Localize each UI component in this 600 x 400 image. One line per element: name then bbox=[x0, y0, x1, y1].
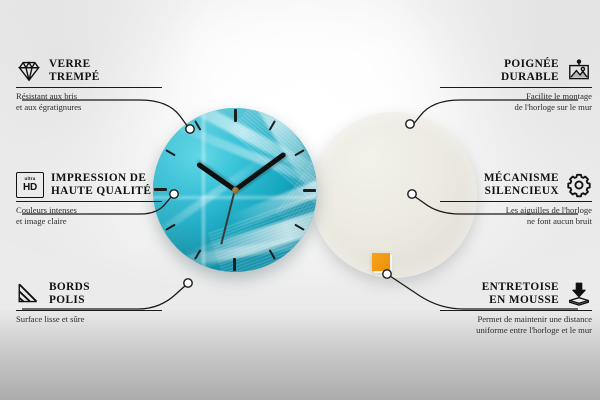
feature-divider bbox=[16, 201, 162, 202]
callout-dot-print-quality bbox=[170, 190, 178, 198]
feature-description: Couleurs intenses et image claire bbox=[16, 205, 162, 226]
feature-header: ENTRETOISE EN MOUSSE bbox=[440, 281, 592, 307]
arrow-press-pad-icon bbox=[566, 281, 592, 307]
feature-divider bbox=[440, 87, 592, 88]
feature-title: ENTRETOISE EN MOUSSE bbox=[482, 281, 559, 306]
feature-print-quality: ultra HD IMPRESSION DE HAUTE QUALITÉ Cou… bbox=[16, 172, 162, 226]
feature-description: Permet de maintenir une distance uniform… bbox=[440, 314, 592, 335]
feature-divider bbox=[16, 87, 162, 88]
feature-description: Résistant aux bris et aux égratignures bbox=[16, 91, 162, 112]
feature-title: MÉCANISME SILENCIEUX bbox=[484, 172, 559, 197]
feature-divider bbox=[16, 310, 162, 311]
feature-title: BORDS POLIS bbox=[49, 281, 90, 306]
hanging-picture-frame-icon bbox=[566, 58, 592, 84]
infographic-canvas: VERRE TREMPÉ Résistant aux bris et aux é… bbox=[0, 0, 600, 400]
gear-icon bbox=[566, 172, 592, 198]
feature-header: VERRE TREMPÉ bbox=[16, 58, 162, 84]
feature-description: Surface lisse et sûre bbox=[16, 314, 162, 324]
feature-silent-mechanism: MÉCANISME SILENCIEUX Les aiguilles de l'… bbox=[440, 172, 592, 226]
diamond-icon bbox=[16, 58, 42, 84]
feature-durable-hanger: POIGNÉE DURABLE Facilite le montage de l… bbox=[440, 58, 592, 112]
callout-dot-tempered-glass bbox=[186, 125, 194, 133]
feature-divider bbox=[440, 201, 592, 202]
callout-dot-durable-hanger bbox=[406, 120, 414, 128]
feature-polished-edges: BORDS POLIS Surface lisse et sûre bbox=[16, 281, 162, 325]
feature-title: IMPRESSION DE HAUTE QUALITÉ bbox=[51, 172, 151, 197]
diagonal-lines-icon bbox=[16, 281, 42, 307]
feature-title: POIGNÉE DURABLE bbox=[501, 58, 559, 83]
feature-header: BORDS POLIS bbox=[16, 281, 162, 307]
feature-header: POIGNÉE DURABLE bbox=[440, 58, 592, 84]
feature-description: Facilite le montage de l'horloge sur le … bbox=[440, 91, 592, 112]
callout-dot-polished-edges bbox=[184, 279, 192, 287]
feature-tempered-glass: VERRE TREMPÉ Résistant aux bris et aux é… bbox=[16, 58, 162, 112]
feature-title: VERRE TREMPÉ bbox=[49, 58, 100, 83]
feature-header: MÉCANISME SILENCIEUX bbox=[440, 172, 592, 198]
callout-dot-foam-spacer bbox=[383, 270, 391, 278]
ultra-hd-badge-icon: ultra HD bbox=[16, 172, 44, 198]
feature-header: ultra HD IMPRESSION DE HAUTE QUALITÉ bbox=[16, 172, 162, 198]
feature-divider bbox=[440, 310, 592, 311]
callout-dot-silent-mechanism bbox=[408, 190, 416, 198]
feature-description: Les aiguilles de l'horloge ne font aucun… bbox=[440, 205, 592, 226]
feature-foam-spacer: ENTRETOISE EN MOUSSE Permet de maintenir… bbox=[440, 281, 592, 335]
